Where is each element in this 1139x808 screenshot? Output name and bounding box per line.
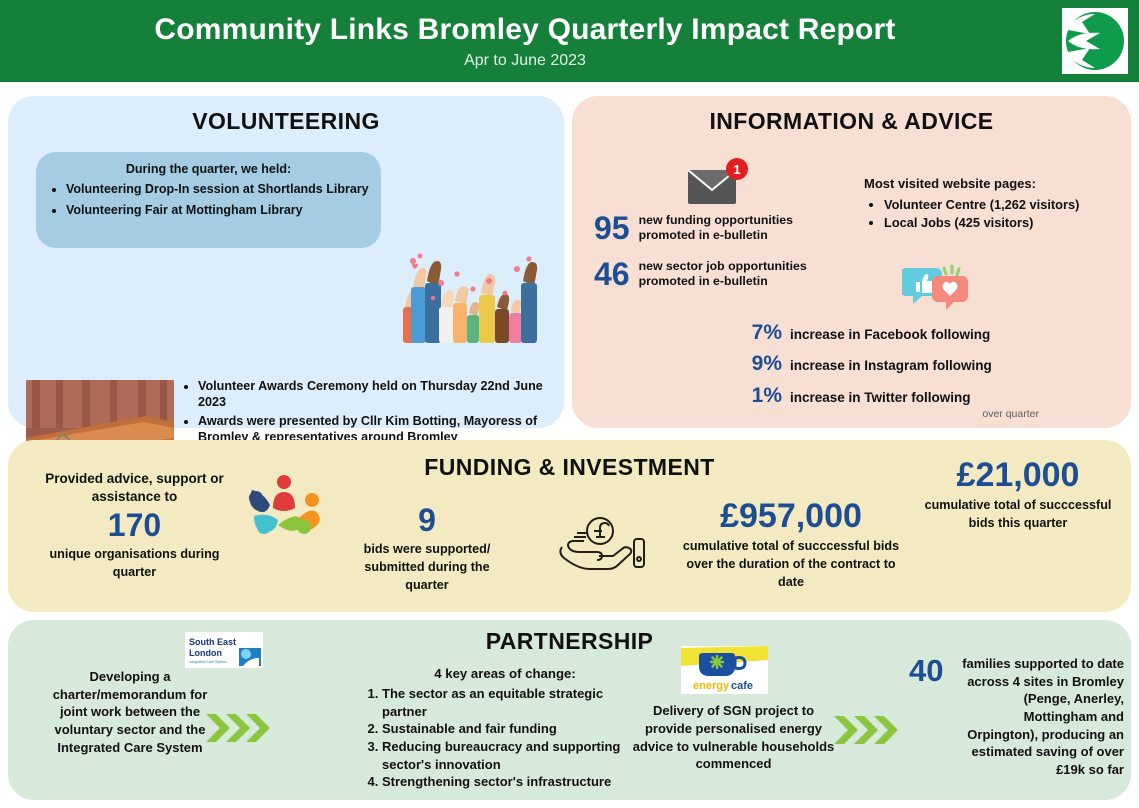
energy-cafe-logo: energy cafe [681,646,768,694]
list-item: Volunteer Centre (1,262 visitors) [884,196,1114,214]
funding-number: 170 [32,507,237,544]
social-growth-instagram: 9% increase in Instagram following [722,351,1122,377]
partnership-families-stat: 40 families supported to date across 4 s… [909,655,1124,779]
chevron-arrows-right-icon-2 [832,712,898,748]
partnership-key-areas: 4 key areas of change: The sector as an … [360,666,650,791]
social-growth-footnote: over quarter [982,408,1039,420]
list-item: Reducing bureaucracy and supporting sect… [382,738,650,773]
list-item: Local Jobs (425 visitors) [884,214,1114,232]
list-item: Volunteering Drop-In session at Shortlan… [66,181,371,197]
section-information-advice: INFORMATION & ADVICE 1 95 new funding op… [572,96,1131,428]
page-subtitle: Apr to June 2023 [464,52,586,70]
raised-hands-illustration [393,241,548,346]
volunteering-box-heading: During the quarter, we held: [46,162,371,176]
funding-stat-organisations: Provided advice, support or assistance t… [32,470,237,582]
stat-label: new sector job opportunities promoted in… [639,259,829,290]
envelope-icon: 1 [682,156,752,216]
list-item: Sustainable and fair funding [382,720,650,738]
stat-number: 46 [594,258,630,290]
partnership-title: PARTNERSHIP [8,628,1131,655]
sel-logo-line1: South East [189,637,236,647]
chevron-arrows-right-icon [204,710,270,746]
funding-number: £957,000 [676,497,906,536]
page-title: Community Links Bromley Quarterly Impact… [154,13,895,46]
list-item: The sector as an equitable strategic par… [382,685,650,720]
volunteering-title: VOLUNTEERING [8,108,564,135]
social-growth-facebook: 7% increase in Facebook following [722,320,1122,346]
energy-cafe-logo-graphic: energy cafe [681,646,768,694]
percent-value: 7% [722,320,782,346]
mail-badge-count: 1 [733,162,740,177]
section-partnership: PARTNERSHIP Developing a charter/memoran… [8,620,1131,800]
sel-logo-line2: London [189,648,222,658]
hand-holding-pound-icon [556,513,652,575]
stat-funding-opportunities: 95 new funding opportunities promoted in… [594,212,819,244]
social-engagement-icon [902,262,970,314]
sel-logo-line3: Integrated Care System [189,660,227,664]
cafe-word: cafe [731,680,753,692]
stat-number: 95 [594,212,630,244]
stat-label: new funding opportunities promoted in e-… [639,213,819,244]
volunteering-box-list: Volunteering Drop-In session at Shortlan… [46,181,371,218]
families-label: families supported to date across 4 site… [952,655,1124,779]
logo-arrows-icon [1064,10,1126,72]
page-header: Community Links Bromley Quarterly Impact… [0,0,1139,82]
list-item: Strengthening sector's infrastructure [382,773,650,791]
funding-sub-text: cumulative total of succcessful bids ove… [676,538,906,592]
funding-sub-text: unique organisations during quarter [32,546,237,582]
families-number: 40 [909,655,943,686]
community-links-bromley-logo [1060,6,1130,76]
funding-stat-bids: 9 bids were supported/ submitted during … [342,500,512,594]
percent-label: increase in Instagram following [790,358,992,373]
percent-value: 9% [722,351,782,377]
social-growth-twitter: 1% increase in Twitter following [722,383,1122,409]
social-growth-list: 7% increase in Facebook following 9% inc… [722,320,1122,414]
people-circle-icon [246,472,322,534]
funding-lead-text: Provided advice, support or assistance t… [32,470,237,505]
funding-sub-text: bids were supported/ submitted during th… [342,541,512,595]
south-east-london-ics-logo: South East London Integrated Care System [185,632,263,668]
volunteering-highlight-box: During the quarter, we held: Volunteerin… [36,152,381,248]
header-title-group: Community Links Bromley Quarterly Impact… [0,0,1050,82]
funding-sub-text: cumulative total of succcessful bids thi… [913,497,1123,533]
stat-job-opportunities: 46 new sector job opportunities promoted… [594,258,829,290]
percent-value: 1% [722,383,782,409]
funding-number: 9 [342,502,512,539]
list-item: Volunteering Fair at Mottingham Library [66,202,371,218]
most-visited-heading: Most visited website pages: [864,176,1036,191]
key-areas-heading: 4 key areas of change: [360,666,650,681]
energy-word: energy [693,680,730,692]
list-item: Volunteer Awards Ceremony held on Thursd… [198,378,556,411]
funding-stat-quarter-total: £21,000 cumulative total of succcessful … [913,454,1123,533]
information-advice-title: INFORMATION & ADVICE [572,108,1131,135]
percent-label: increase in Twitter following [790,390,971,405]
percent-label: increase in Facebook following [790,327,990,342]
sel-logo-graphic: South East London Integrated Care System [185,632,263,668]
funding-stat-cumulative-contract: £957,000 cumulative total of succcessful… [676,495,906,592]
partnership-sgn-text: Delivery of SGN project to provide perso… [631,702,836,773]
partnership-charter-text: Developing a charter/memorandum for join… [50,668,210,756]
most-visited-list: Volunteer Centre (1,262 visitors) Local … [864,196,1114,232]
funding-number: £21,000 [913,456,1123,495]
section-volunteering: VOLUNTEERING During the quarter, we held… [8,96,564,428]
